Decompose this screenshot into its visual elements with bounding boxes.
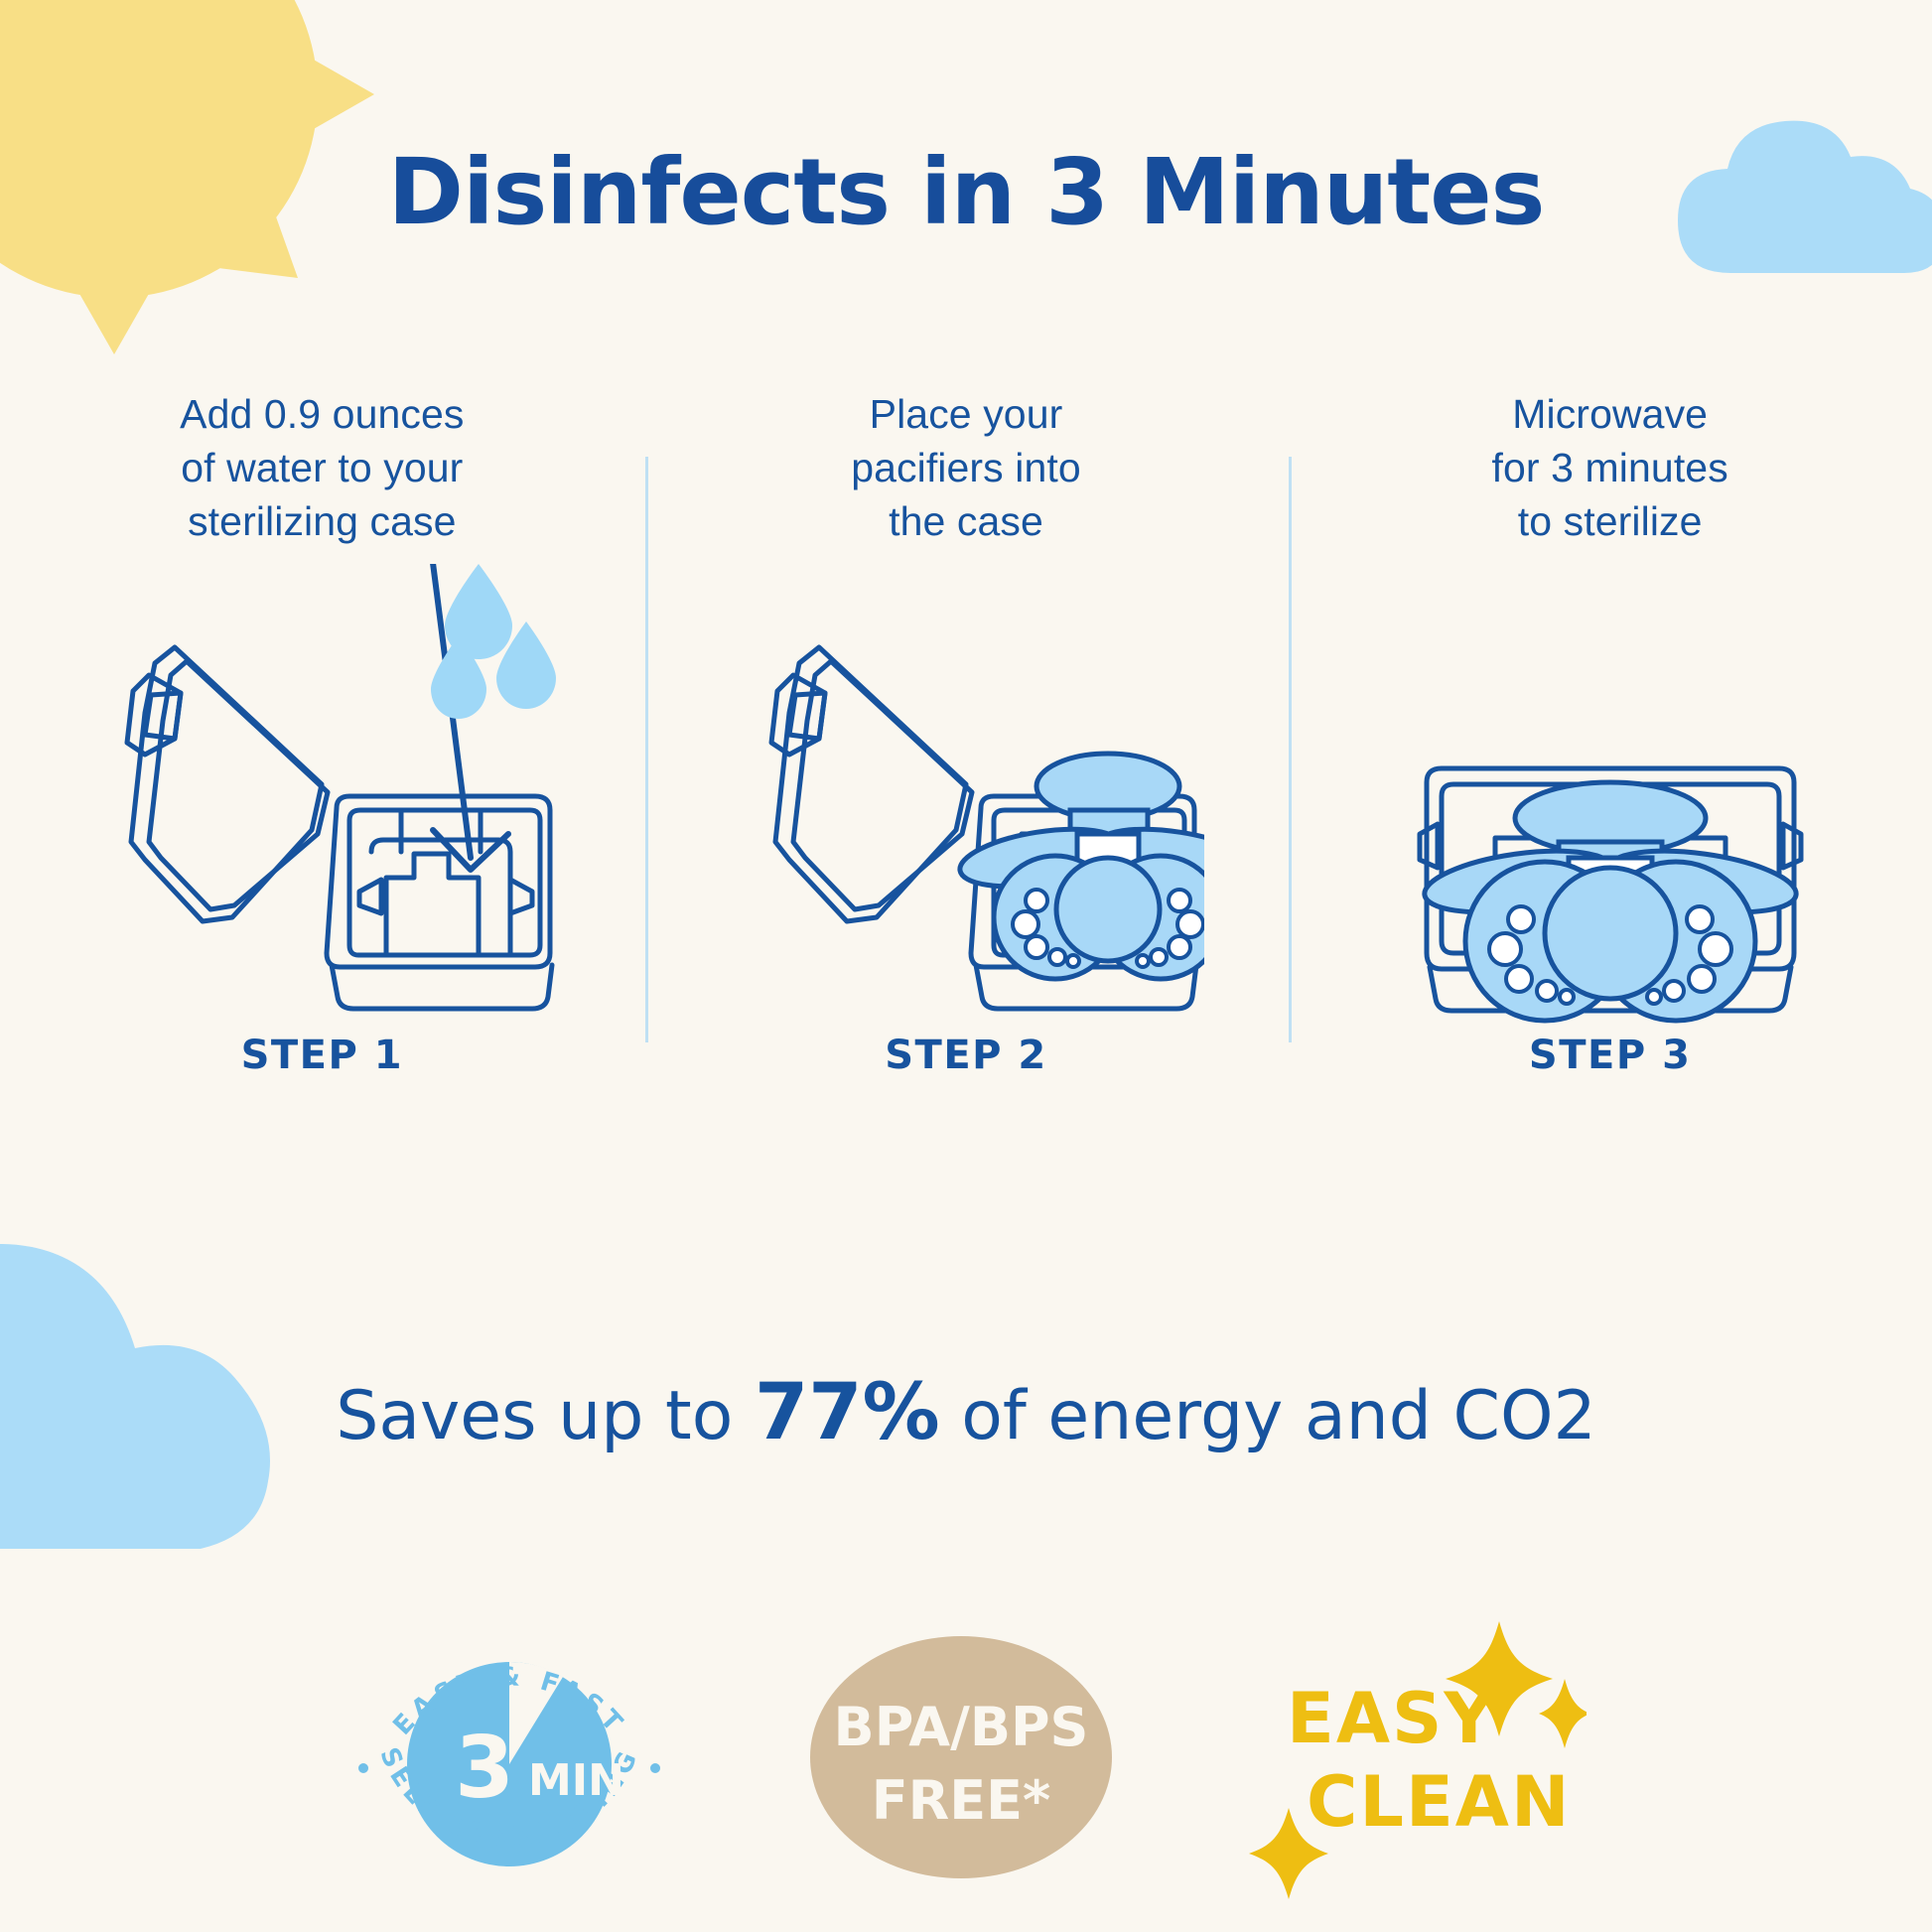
step-1-caption: Add 0.9 ounces of water to your steriliz… — [143, 387, 500, 548]
badge-bpa-line-1: BPA/BPS — [834, 1696, 1089, 1758]
badge-three-min-number: 3 — [455, 1719, 514, 1818]
badge-row: EASY & FAST SELF STERILIZING 3 MIN BPA/B… — [0, 1588, 1932, 1926]
step-2-caption-line-2: pacifiers into — [787, 441, 1145, 494]
step-divider-2 — [1289, 457, 1292, 1042]
step-1-label: STEP 1 — [83, 1033, 560, 1078]
badge-easy-clean-line-2: CLEAN — [1307, 1761, 1572, 1843]
page-title: Disinfects in 3 Minutes — [0, 139, 1932, 245]
step-3-caption: Microwave for 3 minutes to sterilize — [1432, 387, 1789, 548]
savings-prefix: Saves up to — [336, 1377, 755, 1455]
open-case-with-water-drops-icon — [83, 564, 560, 1031]
savings-suffix: of energy and CO2 — [940, 1377, 1596, 1455]
closed-case-with-pacifier-icon — [1372, 564, 1849, 1031]
step-2: Place your pacifiers into the case — [644, 387, 1289, 1211]
water-drop-icon — [431, 564, 556, 719]
step-3-caption-line-2: for 3 minutes — [1432, 441, 1789, 494]
badge-bpa-line-2: FREE* — [872, 1769, 1050, 1832]
steps-row: Add 0.9 ounces of water to your steriliz… — [0, 387, 1932, 1211]
infographic-canvas: Disinfects in 3 Minutes Add 0.9 ounces o… — [0, 0, 1932, 1932]
sparkle-icon — [1249, 1621, 1587, 1899]
open-case-with-pacifier-icon — [728, 564, 1204, 1031]
savings-highlight: 77% — [755, 1368, 940, 1457]
easy-clean-icon: EASY CLEAN — [1249, 1613, 1587, 1901]
step-1-illustration: STEP 1 — [83, 564, 560, 1031]
step-divider-1 — [645, 457, 648, 1042]
step-2-caption-line-1: Place your — [787, 387, 1145, 441]
badge-three-min-unit: MIN — [528, 1755, 624, 1806]
step-3-caption-line-1: Microwave — [1432, 387, 1789, 441]
step-3-label: STEP 3 — [1372, 1033, 1849, 1078]
badge-three-min: EASY & FAST SELF STERILIZING 3 MIN — [345, 1593, 673, 1921]
step-2-illustration: STEP 2 — [728, 564, 1204, 1031]
three-min-seal-icon: EASY & FAST SELF STERILIZING 3 MIN — [345, 1593, 673, 1921]
step-3: Microwave for 3 minutes to sterilize — [1288, 387, 1932, 1211]
step-3-caption-line-3: to sterilize — [1432, 494, 1789, 548]
step-3-illustration: STEP 3 — [1372, 564, 1849, 1031]
step-1: Add 0.9 ounces of water to your steriliz… — [0, 387, 644, 1211]
step-1-caption-line-3: sterilizing case — [143, 494, 500, 548]
step-2-label: STEP 2 — [728, 1033, 1204, 1078]
badge-easy-clean: EASY CLEAN — [1249, 1613, 1587, 1901]
bpa-bps-free-icon: BPA/BPS FREE* — [792, 1628, 1130, 1886]
step-1-caption-line-2: of water to your — [143, 441, 500, 494]
step-1-caption-line-1: Add 0.9 ounces — [143, 387, 500, 441]
step-2-caption-line-3: the case — [787, 494, 1145, 548]
pacifier-icon — [1421, 782, 1800, 1021]
badge-bpa-bps-free: BPA/BPS FREE* — [792, 1628, 1130, 1886]
savings-statement: Saves up to 77% of energy and CO2 — [0, 1368, 1932, 1457]
badge-easy-clean-line-1: EASY — [1287, 1678, 1496, 1759]
step-2-caption: Place your pacifiers into the case — [787, 387, 1145, 548]
